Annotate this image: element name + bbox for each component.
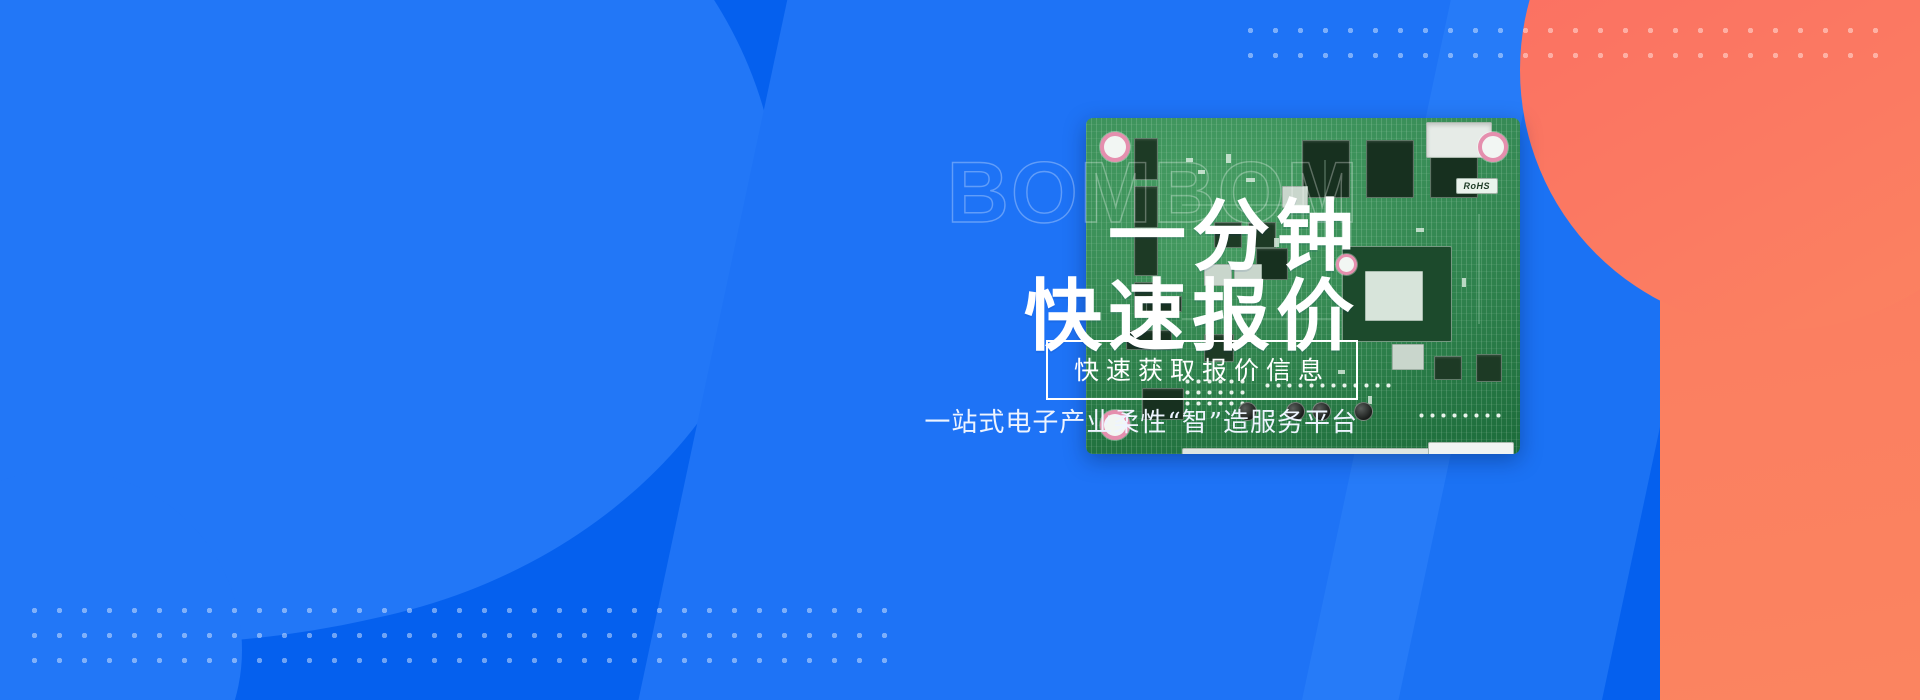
pcb-trace: [1478, 214, 1480, 324]
shield-can: [1392, 344, 1424, 370]
dot-grid-top-right: [1238, 18, 1878, 72]
smd-part: [1462, 278, 1466, 287]
promo-banner: RoHS BOMBOM 一分钟 快速报价 快速获取报价信息 一站式电子产业柔性“…: [0, 0, 1920, 700]
mounting-hole: [1478, 132, 1508, 162]
pad-array: [1416, 410, 1506, 422]
dot-grid-bottom-left: [22, 598, 902, 678]
banner-headline: 一分钟 快速报价: [660, 198, 1360, 357]
rohs-badge: RoHS: [1456, 178, 1499, 194]
ic-chip: [1476, 354, 1502, 382]
banner-text-block: BOMBOM 一分钟 快速报价 快速获取报价信息 一站式电子产业柔性“智”造服务…: [660, 150, 1360, 570]
ic-chip: [1434, 356, 1462, 380]
memory-chip: [1366, 140, 1414, 198]
edge-connector: [1428, 442, 1514, 454]
banner-tagline: 一站式电子产业柔性“智”造服务平台: [924, 402, 1358, 439]
cta-subtitle-box[interactable]: 快速获取报价信息: [1046, 340, 1358, 400]
headline-line-1: 一分钟: [1108, 192, 1360, 282]
smd-part: [1416, 228, 1424, 232]
processor-die: [1365, 271, 1423, 321]
